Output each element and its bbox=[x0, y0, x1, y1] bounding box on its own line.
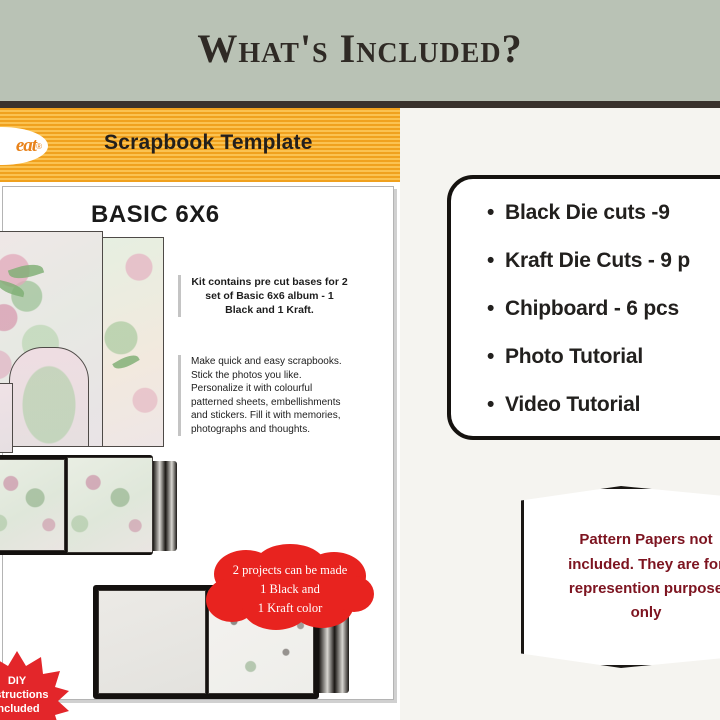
diy-badge-text: DIY Instructions Included bbox=[0, 675, 69, 716]
bullet-icon: • bbox=[487, 394, 505, 415]
diy-badge-line-2: Instructions bbox=[0, 689, 69, 703]
hero-album-arch-element bbox=[9, 347, 89, 447]
disclaimer-text: Pattern Papers not included. They are fo… bbox=[541, 528, 720, 625]
registered-trademark-icon: ® bbox=[36, 142, 42, 151]
includes-list-box: • Black Die cuts -9 • Kraft Die Cuts - 9… bbox=[447, 175, 720, 440]
diy-starburst-badge: DIY Instructions Included bbox=[0, 649, 69, 720]
kit-contents-blurb: Kit contains pre cut bases for 2 set of … bbox=[178, 275, 348, 317]
album-photo-one bbox=[0, 449, 193, 561]
bullet-icon: • bbox=[487, 298, 505, 319]
includes-list-item: • Black Die cuts -9 bbox=[487, 201, 720, 249]
brand-logo: eat® bbox=[0, 127, 48, 165]
sheet-brand-banner: eat® Scrapbook Template bbox=[0, 108, 400, 182]
hero-album-front-flap bbox=[0, 383, 13, 453]
bullet-icon: • bbox=[487, 202, 505, 223]
sheet-content-card: BASIC 6X6 Kit contains pre cut bases for… bbox=[2, 186, 394, 700]
includes-list-item: • Video Tutorial bbox=[487, 393, 720, 441]
disclaimer-box: Pattern Papers not included. They are fo… bbox=[521, 486, 720, 668]
cloud-callout-line-1: 2 projects can be made bbox=[206, 561, 374, 580]
brand-logo-text: eat bbox=[16, 135, 36, 157]
usage-instructions-blurb: Make quick and easy scrapbooks. Stick th… bbox=[178, 355, 350, 436]
includes-item-label: Kraft Die Cuts - 9 p bbox=[505, 249, 690, 273]
includes-list-item: • Chipboard - 6 pcs bbox=[487, 297, 720, 345]
includes-item-label: Photo Tutorial bbox=[505, 345, 643, 369]
sheet-product-kicker: BASIC 6X6 bbox=[91, 201, 220, 229]
includes-list-item: • Kraft Die Cuts - 9 p bbox=[487, 249, 720, 297]
includes-item-label: Video Tutorial bbox=[505, 393, 640, 417]
cloud-callout-text: 2 projects can be made 1 Black and 1 Kra… bbox=[206, 561, 374, 617]
hero-album-right-panel bbox=[102, 237, 164, 447]
diy-badge-line-3: Included bbox=[0, 703, 69, 717]
includes-item-label: Black Die cuts -9 bbox=[505, 201, 670, 225]
sheet-banner-title: Scrapbook Template bbox=[104, 131, 313, 155]
includes-item-label: Chipboard - 6 pcs bbox=[505, 297, 679, 321]
cloud-callout-line-2: 1 Black and bbox=[206, 580, 374, 599]
hero-popup-album-image bbox=[0, 231, 179, 463]
bullet-icon: • bbox=[487, 250, 505, 271]
product-sheet-panel: eat® Scrapbook Template BASIC 6X6 Kit co… bbox=[0, 108, 400, 720]
header-divider-rule bbox=[0, 101, 720, 108]
bullet-icon: • bbox=[487, 346, 505, 367]
cloud-callout-line-3: 1 Kraft color bbox=[206, 599, 374, 618]
page-title: What's Included? bbox=[197, 29, 522, 73]
cloud-callout: 2 projects can be made 1 Black and 1 Kra… bbox=[206, 544, 374, 632]
diy-badge-line-1: DIY bbox=[0, 675, 69, 689]
page-header-banner: What's Included? bbox=[0, 0, 720, 101]
includes-list-item: • Photo Tutorial bbox=[487, 345, 720, 393]
